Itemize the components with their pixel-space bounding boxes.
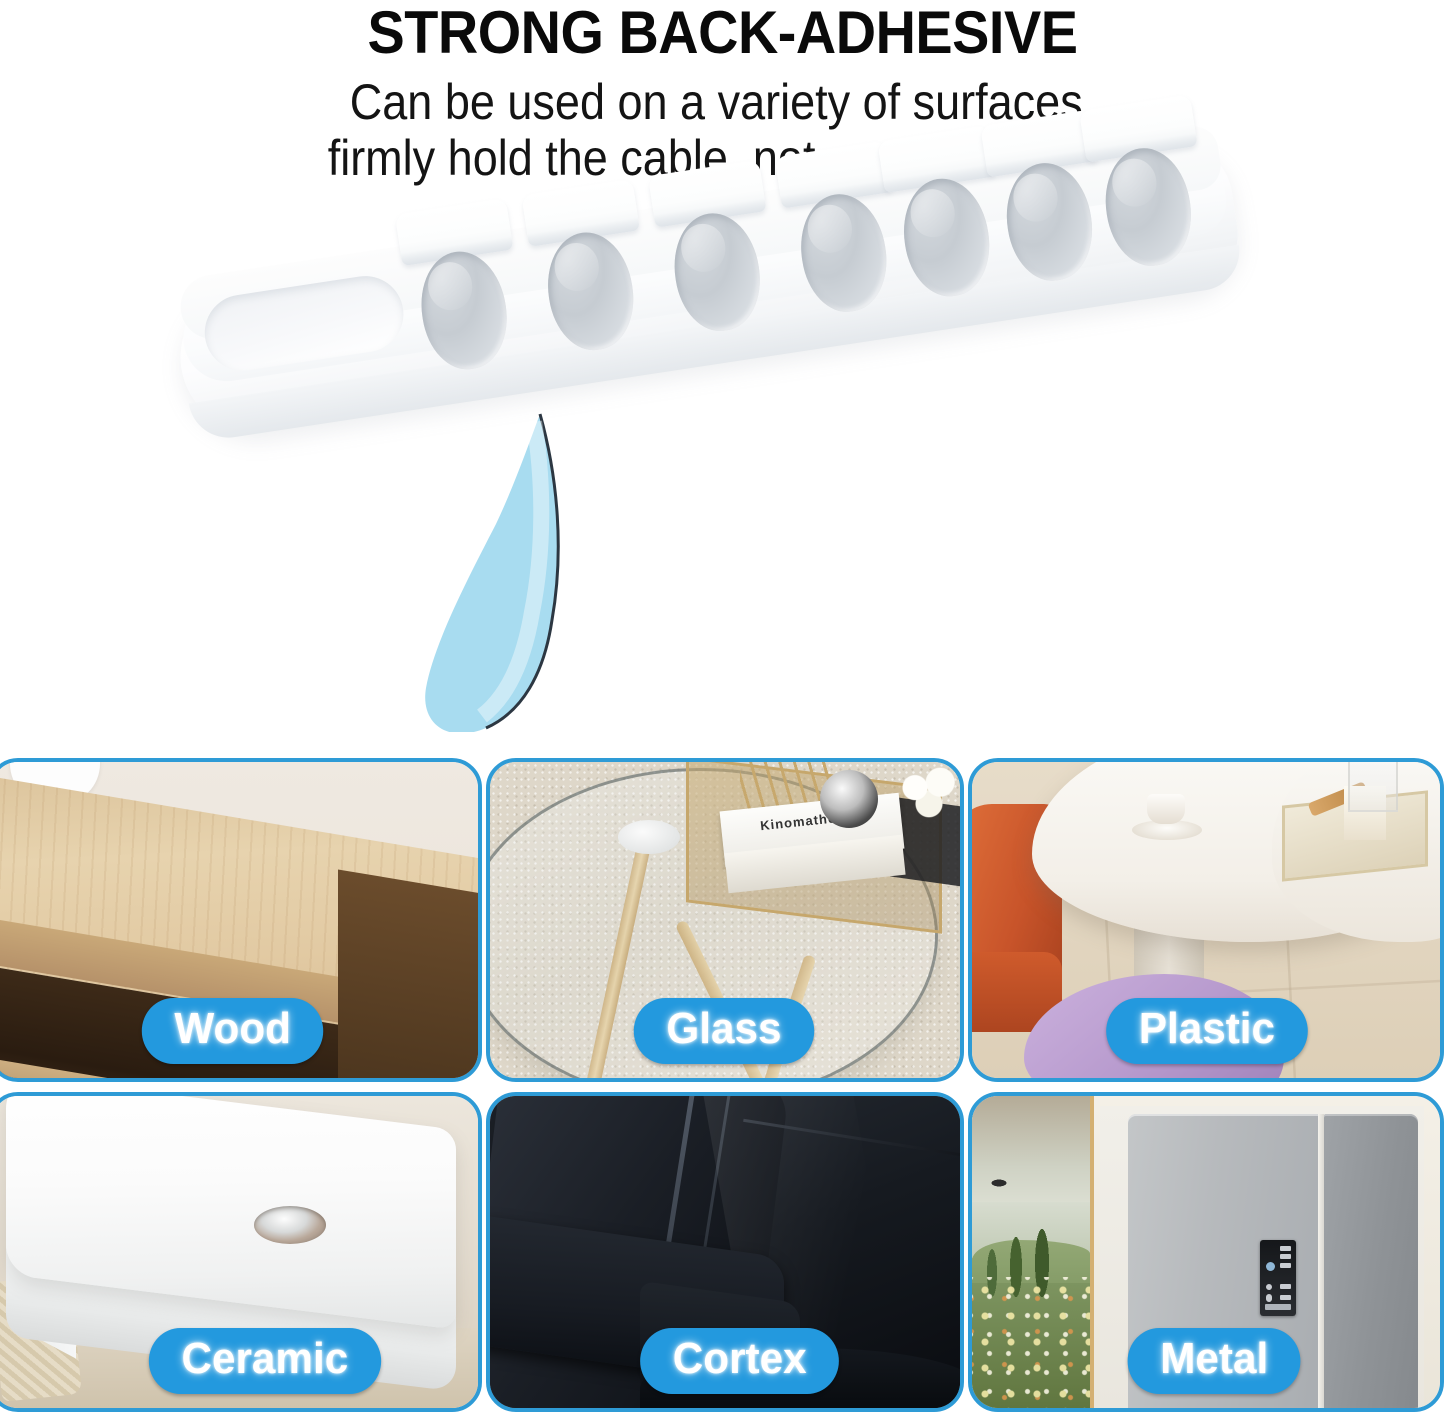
panel-dial-icon	[1266, 1262, 1275, 1271]
coffee-cup	[1147, 794, 1185, 824]
framed-landscape-painting	[972, 1096, 1094, 1408]
surface-card-glass[interactable]: Kinomather Glass	[486, 758, 964, 1082]
fridge-right-door	[1324, 1114, 1418, 1408]
surface-label-metal: Metal	[1128, 1328, 1301, 1394]
sink-drain-icon	[254, 1206, 326, 1244]
slot-channel-icon	[667, 207, 768, 336]
panel-indicator	[1280, 1263, 1291, 1268]
slot-channel-icon	[414, 246, 515, 375]
painting-sky	[972, 1096, 1090, 1215]
surface-label-cortex: Cortex	[640, 1328, 839, 1394]
white-flowers	[894, 766, 960, 820]
cable-slot	[1065, 93, 1224, 301]
surface-card-wood[interactable]: Wood	[0, 758, 482, 1082]
surface-label-ceramic: Ceramic	[149, 1328, 381, 1394]
panel-indicator	[1266, 1284, 1272, 1290]
slot-channel-icon	[540, 227, 641, 356]
desk-right-panel	[338, 869, 478, 1078]
panel-indicator	[1280, 1295, 1291, 1300]
surface-examples-grid: Wood Kinomather Glass	[0, 752, 1445, 1409]
slot-channel-icon	[1098, 142, 1199, 271]
panel-indicator	[1266, 1294, 1272, 1302]
surface-card-cortex[interactable]: Cortex	[486, 1092, 964, 1412]
painting-flowers	[972, 1277, 1090, 1408]
fridge-control-panel[interactable]	[1260, 1240, 1296, 1316]
painting-bird-icon	[986, 1177, 1012, 1189]
panel-indicator	[1280, 1254, 1291, 1259]
glass-ball-vase	[820, 770, 878, 828]
surface-label-wood: Wood	[142, 998, 324, 1064]
product-hero	[0, 176, 1445, 744]
panel-display	[1265, 1304, 1291, 1310]
surface-label-plastic: Plastic	[1106, 998, 1307, 1064]
table-hardware-disc	[618, 820, 680, 854]
panel-indicator	[1280, 1246, 1291, 1251]
surface-label-glass: Glass	[634, 998, 814, 1064]
product-stage	[150, 176, 1330, 744]
surface-card-ceramic[interactable]: Ceramic	[0, 1092, 482, 1412]
surface-card-metal[interactable]: Metal	[968, 1092, 1444, 1412]
surface-card-plastic[interactable]: Plastic	[968, 758, 1444, 1082]
glass-carafe	[1348, 762, 1398, 812]
panel-indicator	[1280, 1284, 1291, 1289]
